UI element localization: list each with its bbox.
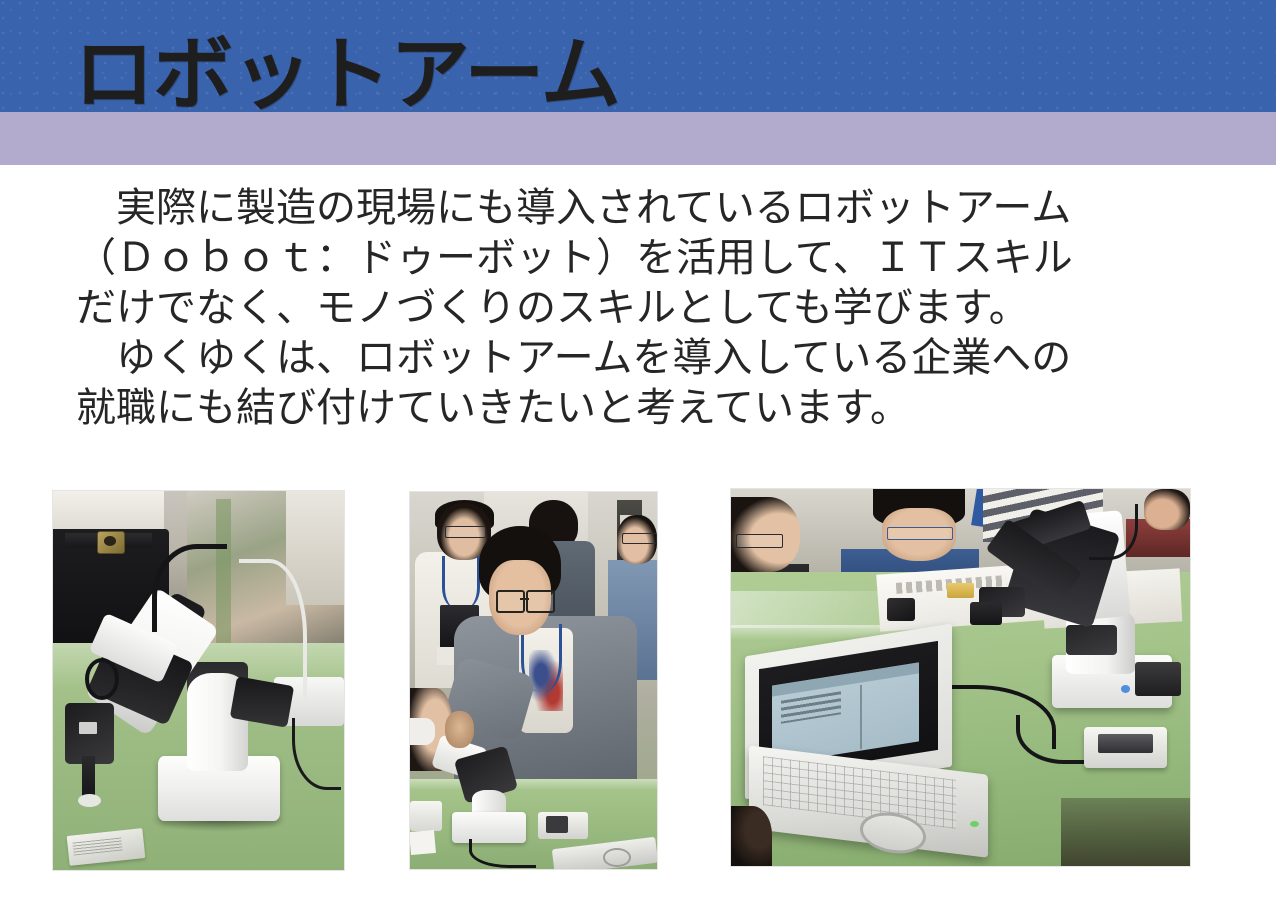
student-center-glasses bbox=[887, 527, 953, 540]
table-shadow bbox=[1061, 798, 1190, 866]
body-text-block: 実際に製造の現場にも導入されているロボットアーム （Ｄｏｂｏｔ：ドゥーボット）を… bbox=[76, 183, 1200, 433]
main-student-glasses-right bbox=[526, 590, 555, 613]
photo-robot-arm-scene bbox=[53, 491, 344, 870]
controller-box-screen bbox=[546, 816, 568, 833]
robot-status-led bbox=[1121, 685, 1130, 693]
robot-shoulder-motor bbox=[1066, 625, 1116, 655]
body-line-3: だけでなく、モノづくりのスキルとしても学びます。 bbox=[76, 283, 1200, 333]
photo-students-scene bbox=[410, 492, 657, 869]
student-right-glasses bbox=[622, 533, 656, 543]
slide-header: ロボットアーム bbox=[0, 0, 1276, 165]
robot-base-port-panel bbox=[1135, 662, 1181, 696]
robot-end-effector bbox=[970, 602, 1002, 625]
photo-students-operating-arm bbox=[410, 492, 657, 869]
yellow-workpiece bbox=[947, 583, 975, 598]
main-student-glasses-bridge bbox=[520, 598, 529, 601]
student-left-glasses bbox=[736, 534, 784, 547]
laptop-app-divider bbox=[860, 685, 862, 749]
page-title: ロボットアーム bbox=[74, 27, 620, 123]
body-line-5: 就職にも結び付けていきたいと考えています。 bbox=[76, 383, 1200, 433]
student-hoodie-glasses bbox=[445, 526, 487, 538]
body-line-2: （Ｄｏｂｏｔ：ドゥーボット）を活用して、ＩＴスキル bbox=[76, 233, 1200, 283]
small-black-clip bbox=[887, 598, 915, 621]
controller-box-screen bbox=[1098, 734, 1153, 753]
second-robot-base bbox=[410, 801, 442, 831]
main-student-glasses-left bbox=[496, 590, 525, 613]
belt-buckle-inner bbox=[104, 536, 116, 546]
body-line-4: ゆくゆくは、ロボットアームを導入している企業への bbox=[76, 333, 1200, 383]
face-mask bbox=[410, 718, 435, 744]
table-edge-highlight bbox=[410, 779, 657, 790]
photo-robot-arm-closeup bbox=[53, 491, 344, 870]
paper-sheet bbox=[410, 830, 436, 855]
student-right-head bbox=[1144, 489, 1190, 530]
body-line-1: 実際に製造の現場にも導入されているロボットアーム bbox=[76, 183, 1200, 233]
gripper-label bbox=[79, 722, 96, 733]
foreground-student-head bbox=[731, 806, 772, 866]
suction-shaft bbox=[82, 756, 95, 798]
student-hoodie-lanyard bbox=[442, 556, 480, 609]
photo-laptop-controlling-arm bbox=[731, 489, 1190, 866]
robot-gripper bbox=[65, 703, 114, 764]
laptop-power-led bbox=[970, 821, 979, 827]
photo-laptop-scene bbox=[731, 489, 1190, 866]
robot-elbow-joint bbox=[85, 658, 119, 700]
main-student-hand bbox=[445, 711, 475, 749]
